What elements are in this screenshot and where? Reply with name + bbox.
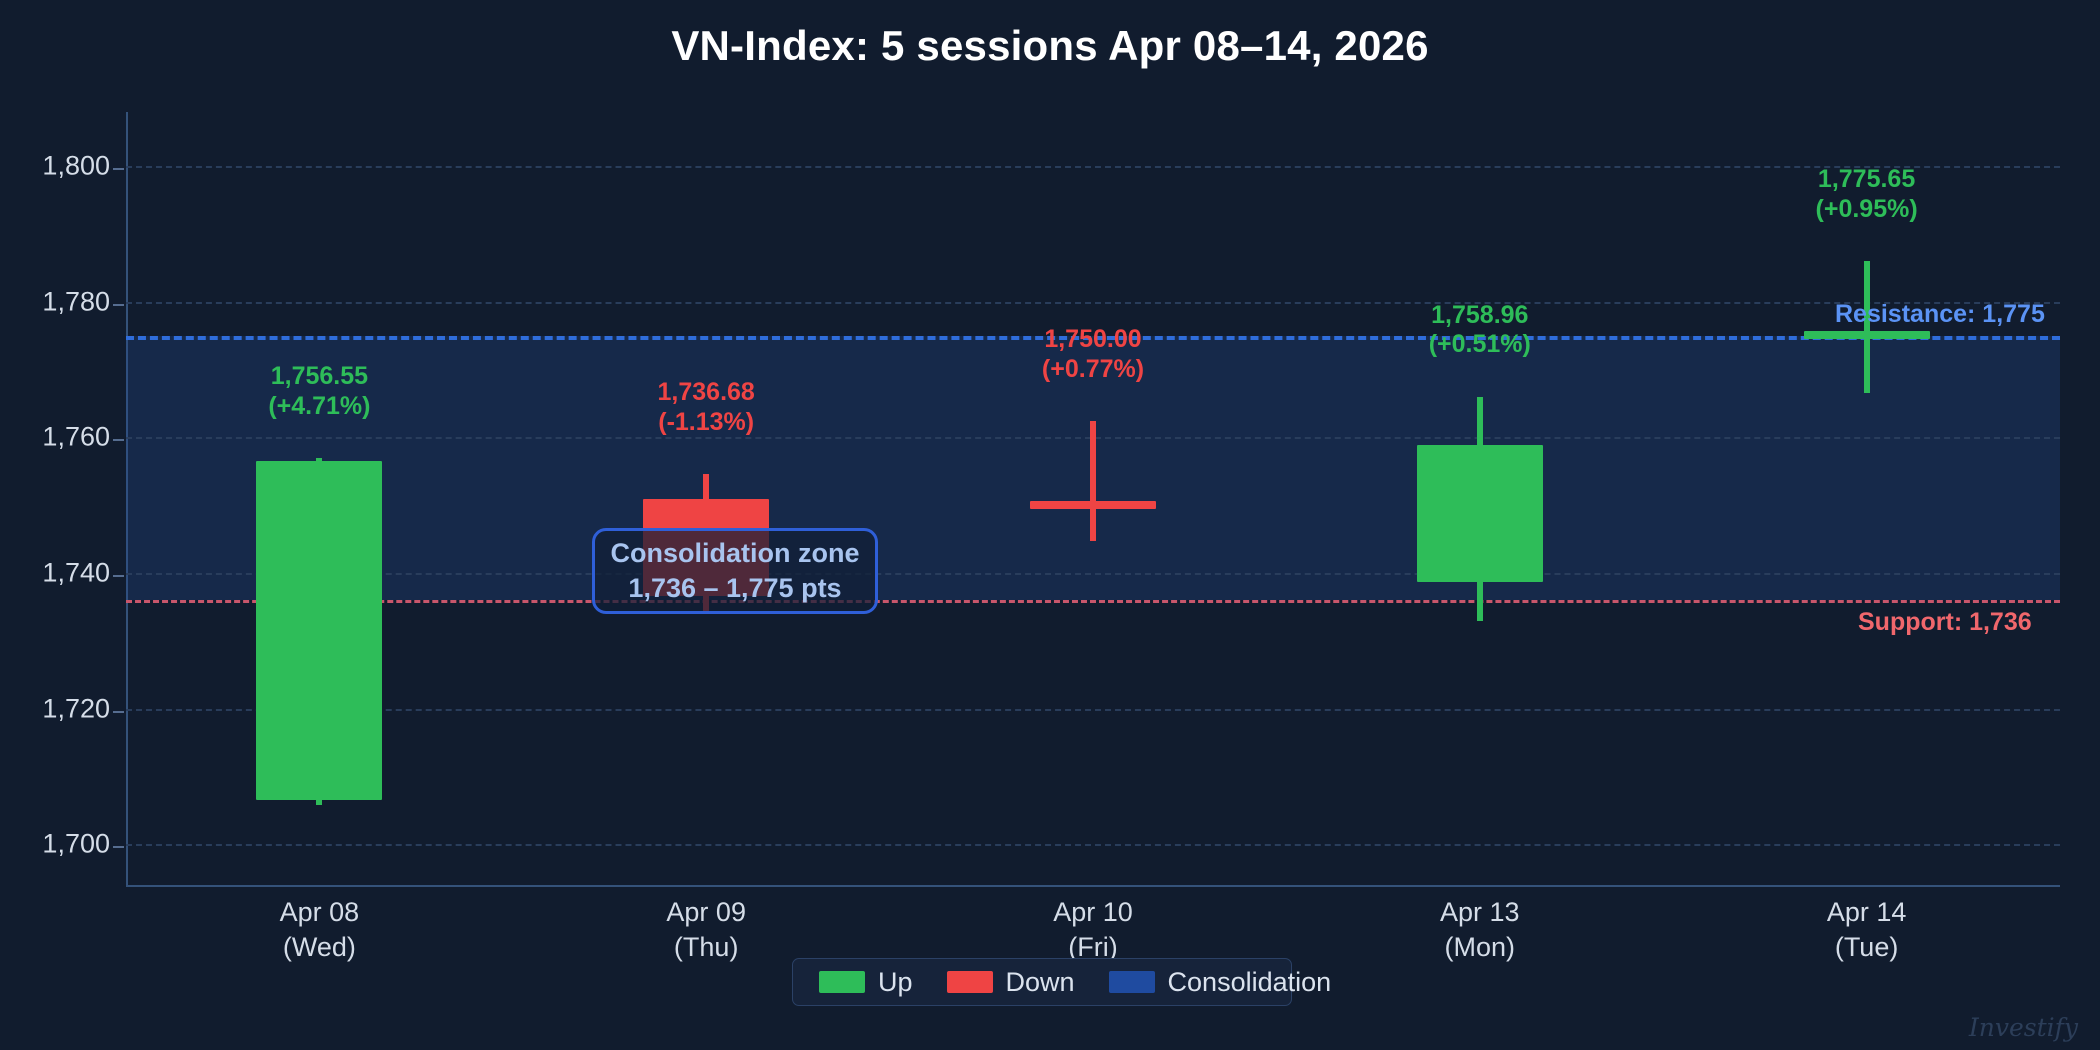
candle-change-pct: (+0.77%) [1042,355,1144,385]
x-tick-weekday: (Tue) [1827,930,1907,965]
candle-change-pct: (+0.95%) [1816,195,1918,225]
legend-item[interactable]: Down [947,967,1075,998]
annotation-line-1: Consolidation zone [609,536,861,571]
watermark: Investify [1969,1013,2078,1042]
legend-swatch [947,971,993,993]
x-tick-weekday: (Thu) [666,930,746,965]
support-line [126,600,2060,603]
y-tick-mark [113,439,124,441]
legend-label: Up [878,967,913,998]
plot-area [126,112,2060,885]
y-tick-label: 1,700 [0,829,110,860]
y-tick-label: 1,780 [0,286,110,317]
candle-close-value: 1,756.55 [268,362,370,392]
legend-label: Consolidation [1168,967,1332,998]
legend-label: Down [1006,967,1075,998]
x-tick-date: Apr 10 [1053,895,1133,930]
legend-item[interactable]: Up [819,967,913,998]
chart-legend[interactable]: UpDownConsolidation [792,958,1292,1006]
legend-swatch [819,971,865,993]
gridline [126,302,2060,304]
gridline [126,709,2060,711]
legend-swatch [1109,971,1155,993]
x-tick-label: Apr 09(Thu) [666,895,746,964]
y-tick-mark [113,575,124,577]
x-tick-date: Apr 08 [280,895,360,930]
y-tick-mark [113,711,124,713]
candle-body [1417,445,1543,582]
candle-close-value: 1,758.96 [1429,301,1531,331]
annotation-line-2: 1,736 – 1,775 pts [609,571,861,606]
candle-change-pct: (+4.71%) [268,392,370,422]
x-tick-weekday: (Wed) [280,930,360,965]
x-tick-label: Apr 10(Fri) [1053,895,1133,964]
candle-price-label: 1,736.68(-1.13%) [658,378,755,437]
candle-body [1030,501,1156,509]
y-tick-label: 1,740 [0,558,110,589]
candle-change-pct: (-1.13%) [658,408,755,438]
gridline [126,844,2060,846]
x-tick-weekday: (Mon) [1440,930,1520,965]
chart-title: VN-Index: 5 sessions Apr 08–14, 2026 [0,22,2100,70]
resistance-label: Resistance: 1,775 [1835,300,2045,329]
y-tick-label: 1,800 [0,151,110,182]
y-tick-mark [113,168,124,170]
x-tick-label: Apr 08(Wed) [280,895,360,964]
candle-change-pct: (+0.51%) [1429,330,1531,360]
candle-body [1804,331,1930,339]
candle-close-value: 1,775.65 [1816,165,1918,195]
gridline [126,166,2060,168]
x-tick-label: Apr 14(Tue) [1827,895,1907,964]
gridline [126,573,2060,575]
consolidation-zone-annotation: Consolidation zone1,736 – 1,775 pts [592,528,878,614]
candle-price-label: 1,758.96(+0.51%) [1429,301,1531,360]
x-tick-date: Apr 13 [1440,895,1520,930]
chart-canvas: VN-Index: 5 sessions Apr 08–14, 2026 1,7… [0,0,2100,1050]
candle-price-label: 1,775.65(+0.95%) [1816,165,1918,224]
x-axis-spine [126,885,2060,887]
x-tick-date: Apr 14 [1827,895,1907,930]
candle-close-value: 1,736.68 [658,378,755,408]
support-label: Support: 1,736 [1858,608,2032,637]
candle-wick [1090,421,1096,541]
y-tick-label: 1,760 [0,422,110,453]
candle-price-label: 1,756.55(+4.71%) [268,362,370,421]
y-tick-label: 1,720 [0,693,110,724]
x-tick-label: Apr 13(Mon) [1440,895,1520,964]
candle-close-value: 1,750.00 [1042,325,1144,355]
candle-body [256,461,382,800]
legend-item[interactable]: Consolidation [1109,967,1332,998]
y-tick-mark [113,304,124,306]
y-tick-mark [113,846,124,848]
x-tick-date: Apr 09 [666,895,746,930]
candle-price-label: 1,750.00(+0.77%) [1042,325,1144,384]
